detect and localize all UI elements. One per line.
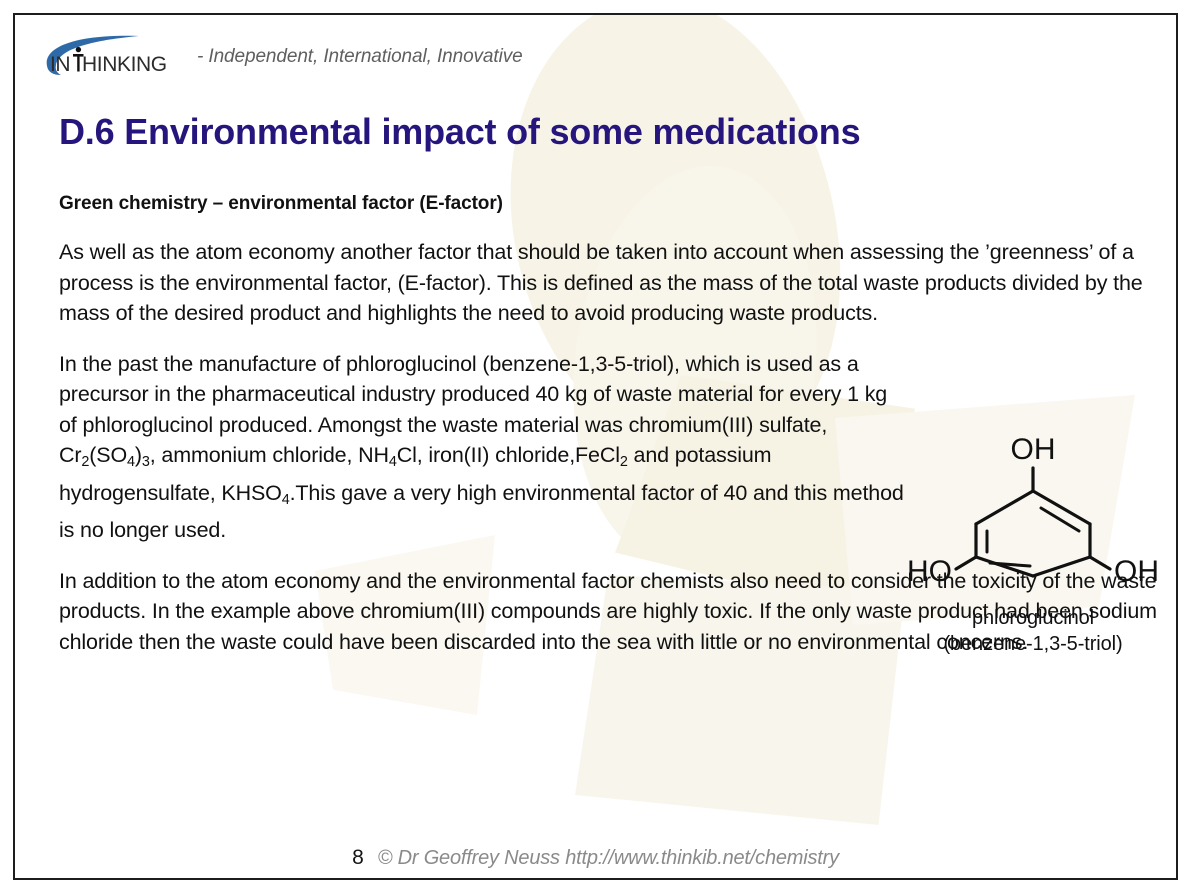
slide-frame: IN HINKING - Independent, International,… xyxy=(13,13,1178,880)
logo-tagline: - Independent, International, Innovative xyxy=(197,46,523,68)
para2-sub-5: 2 xyxy=(620,454,628,470)
slide-footer: 8 © Dr Geoffrey Neuss http://www.thinkib… xyxy=(15,846,1176,870)
page-title: D.6 Environmental impact of some medicat… xyxy=(59,111,860,153)
para2-sub-3: 3 xyxy=(142,454,150,470)
para2-text-5: Cl, iron(II) chloride,FeCl xyxy=(397,443,620,467)
inthinking-logo: IN HINKING xyxy=(35,32,185,82)
oh-label-top: OH xyxy=(1011,435,1056,466)
para2-text-4: , ammonium chloride, NH xyxy=(150,443,389,467)
phloroglucinol-figure: OH HO OH phloroglucinol (benzene-1,3-5-t… xyxy=(908,435,1158,657)
para2-sub-6: 4 xyxy=(282,492,290,508)
svg-text:IN: IN xyxy=(50,53,70,76)
figure-caption: phloroglucinol (benzene-1,3-5-triol) xyxy=(908,605,1158,657)
ho-label-left: HO xyxy=(908,555,952,588)
section-subheading: Green chemistry – environmental factor (… xyxy=(59,193,1157,215)
slide-header: IN HINKING - Independent, International,… xyxy=(35,29,523,85)
oh-label-right: OH xyxy=(1114,555,1158,588)
para2-sub-4: 4 xyxy=(389,454,397,470)
para2-text-3: ) xyxy=(135,443,142,467)
figure-caption-line1: phloroglucinol xyxy=(908,605,1158,631)
inthinking-swoosh-logo: IN HINKING xyxy=(35,32,185,82)
paragraph-e-factor-definition: As well as the atom economy another fact… xyxy=(59,237,1157,329)
paragraph-phloroglucinol-manufacture: In the past the manufacture of phloroglu… xyxy=(59,349,907,546)
copyright-credit: © Dr Geoffrey Neuss http://www.thinkib.n… xyxy=(378,847,839,870)
svg-text:HINKING: HINKING xyxy=(82,53,167,76)
para2-text-2: (SO xyxy=(89,443,127,467)
phloroglucinol-benzene-ring-structure: OH HO OH xyxy=(908,435,1158,603)
para2-sub-2: 4 xyxy=(127,454,135,470)
slide-canvas: IN HINKING - Independent, International,… xyxy=(0,0,1191,893)
figure-caption-line2: (benzene-1,3-5-triol) xyxy=(908,631,1158,657)
page-number: 8 xyxy=(352,846,364,870)
